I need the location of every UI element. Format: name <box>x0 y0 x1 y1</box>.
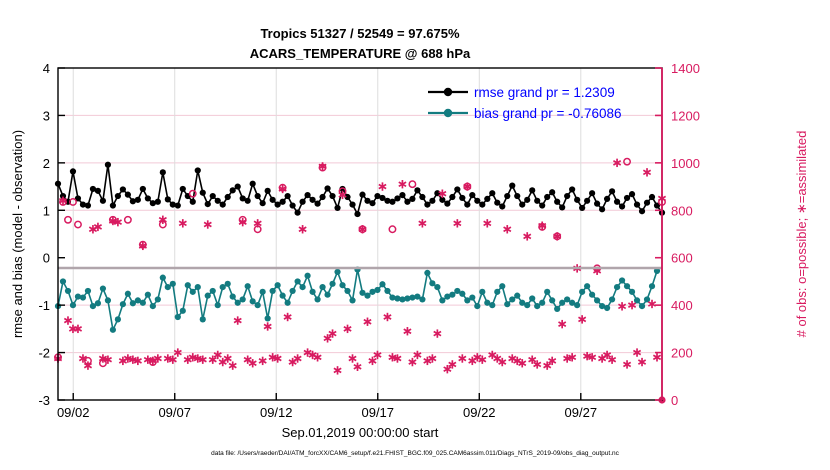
series-point-rmse <box>290 202 296 208</box>
series-point-bias <box>200 316 206 322</box>
series-point-rmse <box>324 185 330 191</box>
series-point-rmse <box>195 167 201 173</box>
series-point-bias <box>120 301 126 307</box>
y-tick-label-right: 800 <box>671 203 693 218</box>
series-point-bias <box>629 289 635 295</box>
series-point-rmse <box>584 198 590 204</box>
series-point-bias <box>474 303 480 309</box>
series-point-rmse <box>444 201 450 207</box>
series-point-bias <box>469 294 475 300</box>
series-point-rmse <box>210 193 216 199</box>
series-point-bias <box>494 289 500 295</box>
x-axis-label: Sep.01,2019 00:00:00 start <box>282 425 439 440</box>
series-point-bias <box>260 289 266 295</box>
y-tick-label: -1 <box>38 298 50 313</box>
y-axis-label-right: # of obs: o=possible; ∗=assimilated <box>794 131 809 338</box>
series-point-rmse <box>145 195 151 201</box>
series-point-rmse <box>155 199 161 205</box>
series-point-bias <box>589 292 595 298</box>
series-point-bias <box>295 278 301 284</box>
series-point-bias <box>504 301 510 307</box>
data-file-footer: data file: /Users/raeder/DAI/ATM_forcXX/… <box>211 450 620 457</box>
series-point-bias <box>309 289 315 295</box>
series-point-rmse <box>399 192 405 198</box>
series-point-bias <box>155 296 161 302</box>
series-point-bias <box>265 315 271 321</box>
series-point-bias <box>275 282 281 288</box>
y-tick-label: 4 <box>43 61 50 76</box>
series-point-rmse <box>115 193 121 199</box>
series-point-bias <box>150 303 156 309</box>
series-point-rmse <box>135 197 141 203</box>
series-point-rmse <box>634 201 640 207</box>
series-point-rmse <box>644 200 650 206</box>
series-point-bias <box>344 288 350 294</box>
series-point-rmse <box>599 206 605 212</box>
series-point-rmse <box>304 192 310 198</box>
series-point-bias <box>619 277 625 283</box>
series-point-rmse <box>70 168 76 174</box>
series-point-bias <box>280 293 286 299</box>
series-point-rmse <box>354 211 360 217</box>
series-point-rmse <box>519 201 525 207</box>
series-point-rmse <box>334 205 340 211</box>
series-point-bias <box>639 303 645 309</box>
series-point-rmse <box>504 193 510 199</box>
y-tick-label: 2 <box>43 156 50 171</box>
series-point-rmse <box>509 183 515 189</box>
series-point-rmse <box>574 197 580 203</box>
series-point-bias <box>70 302 76 308</box>
series-point-rmse <box>125 192 131 198</box>
series-point-rmse <box>230 187 236 193</box>
series-point-bias <box>250 298 256 304</box>
series-point-rmse <box>569 186 575 192</box>
series-point-rmse <box>255 193 261 199</box>
series-point-rmse <box>419 194 425 200</box>
series-point-rmse <box>539 202 545 208</box>
y-tick-label-right: 1400 <box>671 61 700 76</box>
series-point-bias <box>529 295 535 301</box>
series-point-rmse <box>469 192 475 198</box>
series-point-bias <box>270 288 276 294</box>
series-point-bias <box>329 281 335 287</box>
series-point-rmse <box>649 194 655 200</box>
series-point-rmse <box>85 202 91 208</box>
series-point-bias <box>449 292 455 298</box>
y-tick-label: 0 <box>43 251 50 266</box>
series-point-bias <box>379 281 385 287</box>
series-point-bias <box>319 284 325 290</box>
series-point-rmse <box>414 187 420 193</box>
series-point-bias <box>185 282 191 288</box>
series-point-rmse <box>639 208 645 214</box>
y-tick-label: -3 <box>38 393 50 408</box>
series-point-rmse <box>464 201 470 207</box>
series-point-bias <box>584 283 590 289</box>
series-point-rmse <box>489 190 495 196</box>
series-point-rmse <box>484 196 490 202</box>
series-point-bias <box>100 285 106 291</box>
series-point-bias <box>110 327 116 333</box>
series-point-bias <box>579 289 585 295</box>
legend-marker-bias <box>444 109 452 117</box>
series-point-rmse <box>245 198 251 204</box>
series-point-bias <box>549 297 555 303</box>
series-point-rmse <box>309 197 315 203</box>
y-tick-label-right: 200 <box>671 346 693 361</box>
series-point-bias <box>514 293 520 299</box>
y-tick-label: 1 <box>43 203 50 218</box>
series-point-bias <box>180 308 186 314</box>
series-point-bias <box>339 282 345 288</box>
series-point-bias <box>60 278 66 284</box>
y-tick-label-right: 1200 <box>671 108 700 123</box>
y-tick-label-right: 400 <box>671 298 693 313</box>
series-point-bias <box>115 316 121 322</box>
series-point-rmse <box>564 193 570 199</box>
legend-label-rmse: rmse grand pr = 1.2309 <box>474 85 615 100</box>
series-point-bias <box>349 297 355 303</box>
series-point-rmse <box>220 201 226 207</box>
y-axis-label-left: rmse and bias (model - observation) <box>10 130 25 338</box>
series-point-bias <box>240 296 246 302</box>
series-point-rmse <box>604 196 610 202</box>
series-point-rmse <box>270 197 276 203</box>
series-point-bias <box>524 302 530 308</box>
series-point-bias <box>255 302 261 308</box>
series-point-rmse <box>534 198 540 204</box>
series-point-rmse <box>559 204 565 210</box>
series-point-rmse <box>429 198 435 204</box>
series-point-rmse <box>190 199 196 205</box>
series-point-bias <box>175 314 181 320</box>
series-point-rmse <box>205 201 211 207</box>
series-point-rmse <box>180 186 186 192</box>
series-point-bias <box>85 288 91 294</box>
legend-marker-rmse <box>444 88 452 96</box>
series-point-bias <box>190 289 196 295</box>
series-point-bias <box>314 296 320 302</box>
series-point-bias <box>434 284 440 290</box>
series-point-bias <box>489 302 495 308</box>
series-point-bias <box>374 287 380 293</box>
series-point-rmse <box>299 199 305 205</box>
series-point-rmse <box>359 192 365 198</box>
series-point-rmse <box>250 181 256 187</box>
series-point-rmse <box>349 201 355 207</box>
series-point-rmse <box>110 202 116 208</box>
series-point-bias <box>574 302 580 308</box>
y-tick-label: 3 <box>43 108 50 123</box>
series-point-bias <box>499 283 505 289</box>
series-point-rmse <box>160 169 166 175</box>
series-point-bias <box>649 283 655 289</box>
series-point-rmse <box>329 193 335 199</box>
series-point-rmse <box>265 188 271 194</box>
y-tick-label: -2 <box>38 346 50 361</box>
series-point-rmse <box>624 195 630 201</box>
series-point-bias <box>205 293 211 299</box>
series-point-rmse <box>369 200 375 206</box>
series-point-rmse <box>579 205 585 211</box>
series-point-rmse <box>280 199 286 205</box>
chart-title: Tropics 51327 / 52549 = 97.675% <box>260 26 460 41</box>
series-point-rmse <box>175 202 181 208</box>
series-point-bias <box>384 288 390 294</box>
series-point-bias <box>245 283 251 289</box>
series-point-bias <box>324 292 330 298</box>
series-point-bias <box>285 300 291 306</box>
series-point-bias <box>554 306 560 312</box>
series-point-bias <box>459 291 465 297</box>
series-point-rmse <box>454 186 460 192</box>
legend-label-bias: bias grand pr = -0.76086 <box>474 106 621 121</box>
series-point-bias <box>424 270 430 276</box>
series-point-bias <box>95 300 101 306</box>
series-point-rmse <box>609 188 615 194</box>
series-point-rmse <box>449 194 455 200</box>
series-point-bias <box>230 294 236 300</box>
series-point-bias <box>624 283 630 289</box>
series-point-bias <box>594 297 600 303</box>
series-point-rmse <box>549 189 555 195</box>
chart-subtitle: ACARS_TEMPERATURE @ 688 hPa <box>250 46 471 61</box>
series-point-rmse <box>409 196 415 202</box>
series-point-rmse <box>140 186 146 192</box>
series-point-rmse <box>215 198 221 204</box>
series-point-rmse <box>424 201 430 207</box>
y-tick-label-right: 600 <box>671 251 693 266</box>
series-point-bias <box>509 296 515 302</box>
series-point-rmse <box>295 210 301 216</box>
series-point-rmse <box>285 193 291 199</box>
series-point-bias <box>160 275 166 281</box>
y-tick-label-right: 1000 <box>671 156 700 171</box>
series-point-bias <box>439 297 445 303</box>
series-point-rmse <box>120 186 126 192</box>
series-point-rmse <box>514 193 520 199</box>
series-point-bias <box>145 292 151 298</box>
x-tick-label: 09/02 <box>57 405 90 420</box>
x-tick-label: 09/22 <box>463 405 496 420</box>
series-point-bias <box>429 280 435 286</box>
series-point-rmse <box>165 196 171 202</box>
series-point-bias <box>195 284 201 290</box>
series-point-bias <box>225 281 231 287</box>
x-tick-label: 09/27 <box>565 405 598 420</box>
series-point-bias <box>479 289 485 295</box>
series-point-rmse <box>494 200 500 206</box>
series-point-rmse <box>629 191 635 197</box>
series-point-rmse <box>479 201 485 207</box>
series-point-bias <box>544 289 550 295</box>
series-point-bias <box>65 288 71 294</box>
series-point-rmse <box>619 203 625 209</box>
series-point-bias <box>334 269 340 275</box>
series-point-rmse <box>589 190 595 196</box>
series-point-rmse <box>459 195 465 201</box>
series-point-rmse <box>554 199 560 205</box>
series-point-rmse <box>95 188 101 194</box>
series-point-bias <box>614 284 620 290</box>
series-point-rmse <box>544 194 550 200</box>
series-point-bias <box>609 296 615 302</box>
series-point-bias <box>364 293 370 299</box>
series-point-rmse <box>235 183 241 189</box>
series-point-bias <box>539 300 545 306</box>
series-point-bias <box>80 294 86 300</box>
series-point-rmse <box>614 199 620 205</box>
series-point-rmse <box>200 190 206 196</box>
series-point-bias <box>304 273 310 279</box>
series-point-bias <box>604 305 610 311</box>
series-point-bias <box>105 297 111 303</box>
series-point-rmse <box>260 200 266 206</box>
series-point-rmse <box>529 187 535 193</box>
series-point-rmse <box>319 194 325 200</box>
series-point-bias <box>170 281 176 287</box>
series-point-bias <box>215 302 221 308</box>
series-point-rmse <box>594 201 600 207</box>
series-point-bias <box>125 291 131 297</box>
x-tick-label: 09/07 <box>158 405 191 420</box>
series-point-rmse <box>314 201 320 207</box>
series-point-bias <box>299 284 305 290</box>
series-point-rmse <box>474 198 480 204</box>
series-point-bias <box>210 288 216 294</box>
y-tick-label-right: 0 <box>671 393 678 408</box>
series-point-bias <box>419 296 425 302</box>
series-point-rmse <box>225 194 231 200</box>
series-point-rmse <box>100 198 106 204</box>
x-tick-label: 09/17 <box>361 405 394 420</box>
x-tick-label: 09/12 <box>260 405 293 420</box>
series-point-rmse <box>499 203 505 209</box>
series-point-bias <box>290 288 296 294</box>
series-point-rmse <box>105 162 111 168</box>
series-point-rmse <box>524 197 530 203</box>
series-point-bias <box>140 300 146 306</box>
observation-diagnostics-chart: Tropics 51327 / 52549 = 97.675% ACARS_TE… <box>0 0 830 470</box>
